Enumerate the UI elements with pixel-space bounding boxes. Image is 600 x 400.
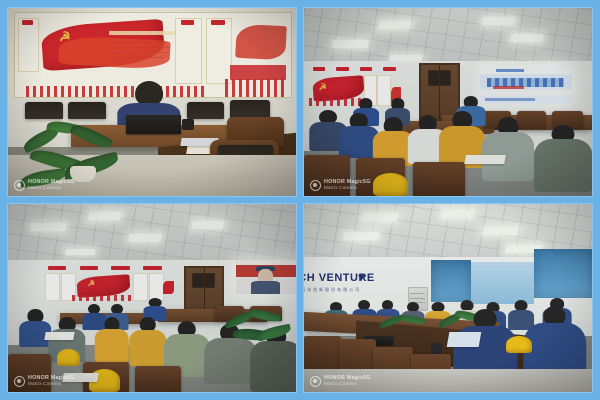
honor-camera-ring-icon [310, 376, 321, 387]
speaker-uniform [251, 281, 280, 294]
scene-bottom-right: CH VENTURE ▼ 科技创新股份有限公司 [304, 204, 592, 392]
watermark: HONOR Magic5G Matrix Camera [14, 180, 75, 191]
attendee [20, 309, 52, 347]
honor-camera-ring-icon [14, 376, 25, 387]
board-side-panel [230, 65, 285, 80]
board-red-tag [181, 20, 195, 26]
attendee [129, 317, 166, 366]
slide-title-block [496, 69, 524, 72]
scene-top-right: ☭ [304, 8, 592, 196]
board-headline-block [109, 31, 175, 35]
scene-bottom-left: ☭ [8, 204, 296, 392]
hard-hat [57, 349, 80, 366]
wall-heading-tag [383, 67, 396, 71]
board-text-line [109, 52, 170, 53]
hammer-sickle-emblem: ☭ [319, 83, 327, 92]
collage-photo-bottom-left[interactable]: ☭ [8, 204, 296, 392]
board-red-tag [22, 20, 33, 26]
honor-camera-ring-icon [14, 180, 25, 191]
attendee [483, 117, 535, 181]
projector-screen [236, 260, 296, 294]
photo-collage: ☭ [0, 0, 600, 400]
plant-leaf [256, 324, 292, 341]
watermark-sub: Matrix Camera [28, 186, 75, 191]
board-text-line [109, 42, 170, 43]
watermark-sub: Matrix Camera [324, 186, 371, 191]
collage-photo-top-right[interactable]: ☭ [304, 8, 592, 196]
window-blind [471, 262, 534, 303]
ceiling-light [441, 210, 474, 218]
honor-camera-ring-icon [310, 180, 321, 191]
slide-highlight [493, 86, 524, 89]
collage-photo-bottom-right[interactable]: CH VENTURE ▼ 科技创新股份有限公司 [304, 204, 592, 392]
wall-heading-tag [313, 67, 326, 71]
ceiling-light [482, 227, 518, 235]
desk-microphone [182, 119, 194, 130]
ceiling-light [482, 17, 515, 25]
board-side-skyline [225, 79, 286, 98]
ceiling-light [378, 21, 411, 29]
hard-hat [506, 336, 532, 353]
attendee-body [129, 330, 166, 366]
logo-triangle-icon: ▼ [356, 272, 367, 284]
notebook [447, 332, 481, 347]
board-text-column [206, 18, 233, 84]
hammer-sickle-emblem: ☭ [59, 30, 71, 43]
attendee-body [94, 329, 129, 361]
chair [135, 366, 181, 392]
projector-screen [480, 66, 572, 104]
watermark: HONOR Magic5G Matrix Camera [310, 180, 371, 191]
board-text-line [109, 47, 170, 48]
collage-photo-top-left[interactable]: ☭ [8, 8, 296, 196]
plant-leaf [247, 307, 281, 325]
ceiling-light [30, 223, 66, 231]
board-text-column [175, 18, 202, 84]
wall-heading-tag [336, 67, 349, 71]
slide-footer [485, 98, 535, 101]
attendee-body [534, 139, 592, 192]
attendee [534, 125, 592, 193]
ceiling-light [192, 221, 225, 229]
company-logo-subtitle: 科技创新股份有限公司 [304, 287, 361, 293]
notebook [464, 155, 506, 164]
watermark: HONOR Magic5G Matrix Camera [310, 376, 371, 387]
board-text-column [18, 18, 39, 72]
ceiling-light [65, 249, 95, 255]
ceiling-light [511, 34, 544, 42]
ceiling-light [332, 40, 368, 48]
wall-heading-tag [360, 67, 373, 71]
board-side-flag [163, 281, 174, 294]
plant-leaf [398, 313, 425, 326]
ceiling-light [344, 232, 380, 240]
notebook [45, 332, 75, 340]
wall-heading-tag [143, 266, 162, 270]
wall-heading-tag [111, 266, 130, 270]
city-skyline-graphic [72, 295, 136, 301]
attendee [94, 317, 129, 362]
window-blind [534, 249, 592, 298]
wall-heading-tag [80, 266, 99, 270]
watermark-sub: Matrix Camera [324, 382, 371, 387]
board-text-column [45, 273, 60, 301]
hard-hat [373, 173, 408, 196]
chair [187, 102, 224, 119]
plant-leaf [70, 120, 114, 151]
ceiling-light [88, 212, 121, 220]
potted-plant [221, 309, 296, 362]
slide-content [236, 260, 296, 294]
scene-top-left: ☭ [8, 8, 296, 196]
watermark: HONOR Magic5G Matrix Camera [14, 376, 75, 387]
watermark-sub: Matrix Camera [28, 382, 75, 387]
hammer-sickle-emblem: ☭ [88, 280, 95, 288]
chair [413, 162, 465, 196]
board-red-tag [211, 20, 225, 26]
board-text-line [109, 57, 164, 58]
window-blind [431, 260, 471, 301]
ceiling-light [361, 213, 397, 221]
slide-content [480, 66, 572, 104]
board-side-flag [235, 23, 286, 59]
ceiling-light [128, 234, 161, 242]
desk-microphone [431, 343, 443, 354]
wall-heading-tag [48, 266, 67, 270]
